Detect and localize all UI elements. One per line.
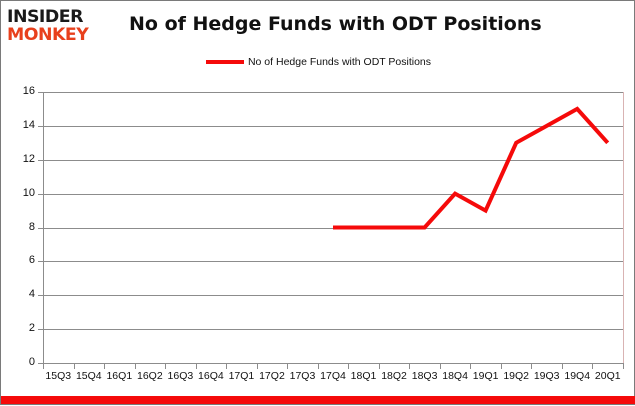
- y-tick-label: 10: [0, 187, 35, 199]
- x-tick-mark: [318, 363, 319, 369]
- footer-accent-bar: [1, 396, 635, 404]
- x-tick-mark: [562, 363, 563, 369]
- x-tick-mark: [226, 363, 227, 369]
- x-tick-mark: [623, 363, 624, 369]
- y-tick-mark: [38, 228, 43, 229]
- gridline: [43, 228, 623, 229]
- y-tick-label: 0: [0, 356, 35, 368]
- x-tick-mark: [257, 363, 258, 369]
- y-tick-mark: [38, 194, 43, 195]
- plot-area: 0246810121416 15Q315Q416Q116Q216Q316Q417…: [1, 1, 635, 406]
- x-tick-label: 20Q1: [588, 370, 628, 382]
- x-tick-mark: [165, 363, 166, 369]
- gridline: [43, 194, 623, 195]
- gridline: [43, 160, 623, 161]
- y-tick-mark: [38, 126, 43, 127]
- y-tick-mark: [38, 295, 43, 296]
- gridline: [43, 295, 623, 296]
- y-tick-mark: [38, 261, 43, 262]
- y-tick-mark: [38, 92, 43, 93]
- y-tick-label: 14: [0, 119, 35, 131]
- y-tick-mark: [38, 160, 43, 161]
- x-tick-mark: [348, 363, 349, 369]
- x-tick-mark: [592, 363, 593, 369]
- y-tick-label: 6: [0, 254, 35, 266]
- y-tick-label: 4: [0, 288, 35, 300]
- y-tick-label: 12: [0, 153, 35, 165]
- x-tick-mark: [501, 363, 502, 369]
- x-tick-mark: [287, 363, 288, 369]
- x-tick-mark: [43, 363, 44, 369]
- x-tick-mark: [409, 363, 410, 369]
- y-tick-label: 2: [0, 322, 35, 334]
- plot-right-border: [623, 92, 624, 364]
- y-tick-mark: [38, 329, 43, 330]
- x-tick-mark: [135, 363, 136, 369]
- x-tick-mark: [531, 363, 532, 369]
- x-tick-mark: [74, 363, 75, 369]
- gridline: [43, 126, 623, 127]
- y-tick-label: 8: [0, 221, 35, 233]
- gridline: [43, 261, 623, 262]
- gridline: [43, 329, 623, 330]
- x-tick-mark: [470, 363, 471, 369]
- series-line-odt: [1, 1, 635, 406]
- x-tick-mark: [440, 363, 441, 369]
- y-tick-label: 16: [0, 85, 35, 97]
- x-tick-mark: [379, 363, 380, 369]
- gridline: [43, 363, 623, 364]
- x-tick-mark: [196, 363, 197, 369]
- x-tick-mark: [104, 363, 105, 369]
- gridline: [43, 92, 623, 93]
